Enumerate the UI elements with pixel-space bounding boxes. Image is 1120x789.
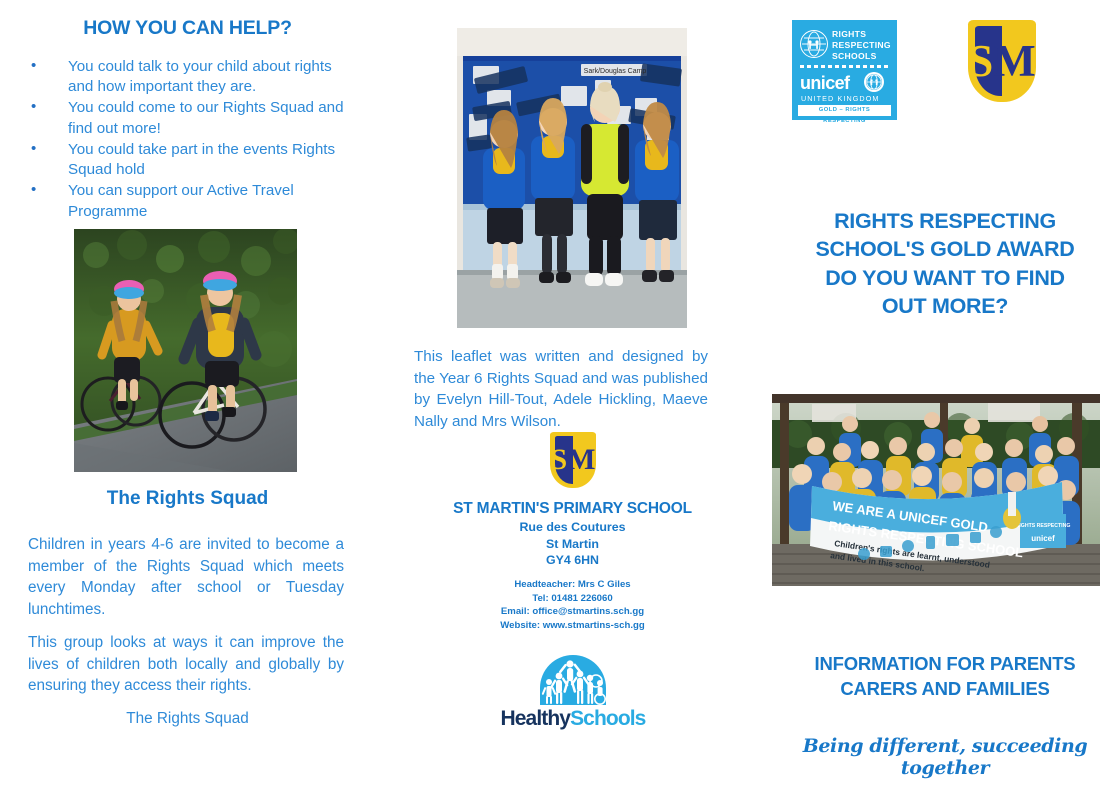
cycling-photo (74, 229, 297, 472)
telephone-line: Tel: 01481 226060 (375, 592, 770, 606)
school-shield-logo-top: SM (968, 20, 1036, 102)
school-address: Rue des Coutures St Martin GY4 6HN (375, 519, 770, 569)
list-item: You can support our Active Travel Progra… (26, 181, 356, 221)
school-contact-details: Headteacher: Mrs C Giles Tel: 01481 2260… (375, 578, 770, 632)
how-you-can-help-title: HOW YOU CAN HELP? (0, 17, 375, 40)
rrs-line-1: RIGHTS (832, 29, 891, 40)
rrs-line-3: SCHOOLS (832, 51, 891, 62)
address-line: GY4 6HN (375, 552, 770, 569)
panel-middle: Sark/Douglas Camp (375, 0, 770, 789)
unicef-rights-respecting-schools-logo: RIGHTS RESPECTING SCHOOLS unicef (792, 20, 897, 120)
school-shield-logo-middle: SM (550, 432, 596, 488)
rights-squad-paragraph-2: This group looks at ways it can improve … (28, 632, 344, 697)
info-line: INFORMATION FOR PARENTS (780, 652, 1110, 677)
headteacher-line: Headteacher: Mrs C Giles (375, 578, 770, 592)
svg-text:RIGHTS RESPECTING: RIGHTS RESPECTING (1016, 523, 1071, 529)
rrs-text: RIGHTS RESPECTING SCHOOLS (832, 29, 891, 62)
shield-letter-m: M (567, 445, 595, 475)
leaflet-page: HOW YOU CAN HELP? You could talk to your… (0, 0, 1120, 789)
schools-word: Schools (570, 707, 645, 730)
information-for-parents: INFORMATION FOR PARENTS CARERS AND FAMIL… (780, 652, 1110, 702)
list-item: You could come to our Rights Squad and f… (26, 98, 356, 138)
unicef-emblem-icon (864, 72, 884, 92)
unicef-wordmark: unicef (800, 73, 849, 94)
shield-letter-s: S (550, 445, 567, 475)
rrs-line-2: RESPECTING (832, 40, 891, 51)
address-line: Rue des Coutures (375, 519, 770, 536)
rights-squad-paragraph-1: Children in years 4-6 are invited to bec… (28, 534, 344, 621)
shield-letter-m: M (993, 39, 1035, 84)
heading-line: DO YOU WANT TO FIND (780, 264, 1110, 292)
unicef-country: UNITED KINGDOM (801, 94, 880, 103)
address-line: St Martin (375, 536, 770, 553)
panel-right: RIGHTS RESPECTING SCHOOLS unicef (770, 0, 1120, 789)
heading-line: RIGHTS RESPECTING (780, 207, 1110, 235)
healthy-word: Healthy (501, 707, 571, 730)
email-line[interactable]: Email: office@stmartins.sch.gg (375, 605, 770, 619)
gold-award-group-photo: WE ARE A UNICEF GOLD RIGHTS RESPECTING S… (772, 394, 1100, 586)
svg-text:unicef: unicef (1031, 534, 1055, 543)
healthy-schools-logo: HealthySchools (499, 655, 647, 737)
rights-squad-signoff: The Rights Squad (0, 710, 375, 728)
website-line[interactable]: Website: www.stmartins-sch.gg (375, 619, 770, 633)
heading-line: SCHOOL'S GOLD AWARD (780, 235, 1110, 263)
gold-award-bar: GOLD – RIGHTS RESPECTING (798, 105, 891, 116)
school-name: ST MARTIN'S PRIMARY SCHOOL (375, 500, 770, 518)
shield-letter-s: S (968, 39, 993, 84)
healthy-schools-circle-icon (540, 655, 606, 705)
rrs-globe-icon (800, 30, 828, 58)
panel-left: HOW YOU CAN HELP? You could talk to your… (0, 0, 375, 789)
main-heading: RIGHTS RESPECTING SCHOOL'S GOLD AWARD DO… (780, 207, 1110, 321)
info-line: CARERS AND FAMILIES (780, 677, 1110, 702)
logo-divider (800, 65, 889, 68)
list-item: You could talk to your child about right… (26, 57, 356, 97)
list-item: You could take part in the events Rights… (26, 140, 356, 180)
svg-text:Sark/Douglas Camp: Sark/Douglas Camp (584, 68, 647, 75)
school-tagline: Being different, succeeding together (775, 735, 1115, 779)
healthy-schools-wordmark: HealthySchools (499, 707, 647, 731)
leaflet-credit-text: This leaflet was written and designed by… (414, 346, 708, 432)
the-rights-squad-title: The Rights Squad (0, 488, 375, 510)
rights-squad-photo: Sark/Douglas Camp (457, 28, 687, 328)
how-you-can-help-list: You could talk to your child about right… (26, 57, 356, 223)
heading-line: OUT MORE? (780, 292, 1110, 320)
